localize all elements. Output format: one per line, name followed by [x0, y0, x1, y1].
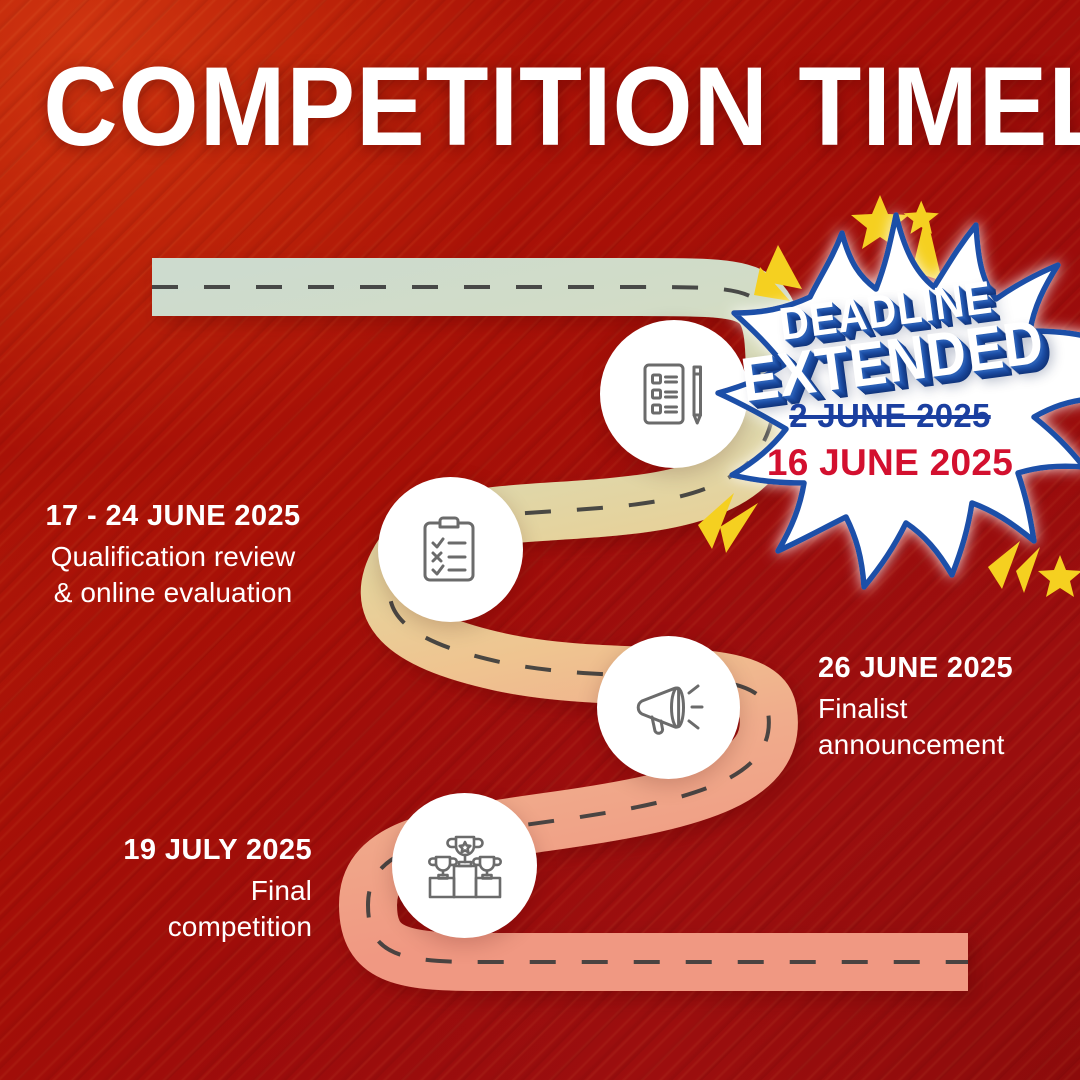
- milestone-date: 19 JULY 2025: [30, 832, 312, 868]
- megaphone-icon: [631, 673, 707, 743]
- poster-canvas: COMPETITION TIMELINE: [0, 0, 1080, 1080]
- trophy-podium-icon: [424, 831, 506, 901]
- badge-dates: 2 JUNE 2025 16 JUNE 2025: [690, 397, 1080, 484]
- clipboard-checklist-icon: [416, 513, 486, 587]
- milestone-label-line1: Finalist: [818, 691, 1068, 727]
- deadline-extended-badge: DEADLINE EXTENDED 2 JUNE 2025 16 JUNE 20…: [690, 185, 1080, 615]
- milestone-node-final[interactable]: [392, 793, 537, 938]
- milestone-label-line1: Qualification review: [8, 539, 338, 575]
- milestone-text-qualification: 17 - 24 JUNE 2025 Qualification review &…: [8, 498, 338, 611]
- milestone-text-finalist: 26 JUNE 2025 Finalist announcement: [818, 650, 1068, 763]
- milestone-text-final: 19 JULY 2025 Final competition: [30, 832, 312, 945]
- milestone-label-line1: Final: [30, 873, 312, 909]
- milestone-label-line2: announcement: [818, 727, 1068, 763]
- milestone-date: 26 JUNE 2025: [818, 650, 1068, 686]
- page-title: COMPETITION TIMELINE: [43, 48, 1037, 166]
- milestone-node-finalist[interactable]: [597, 636, 740, 779]
- milestone-label-line2: & online evaluation: [8, 575, 338, 611]
- milestone-label-line2: competition: [30, 909, 312, 945]
- old-deadline-date: 2 JUNE 2025: [690, 397, 1080, 435]
- milestone-node-qualification[interactable]: [378, 477, 523, 622]
- milestone-date: 17 - 24 JUNE 2025: [8, 498, 338, 534]
- new-deadline-date: 16 JUNE 2025: [690, 442, 1080, 484]
